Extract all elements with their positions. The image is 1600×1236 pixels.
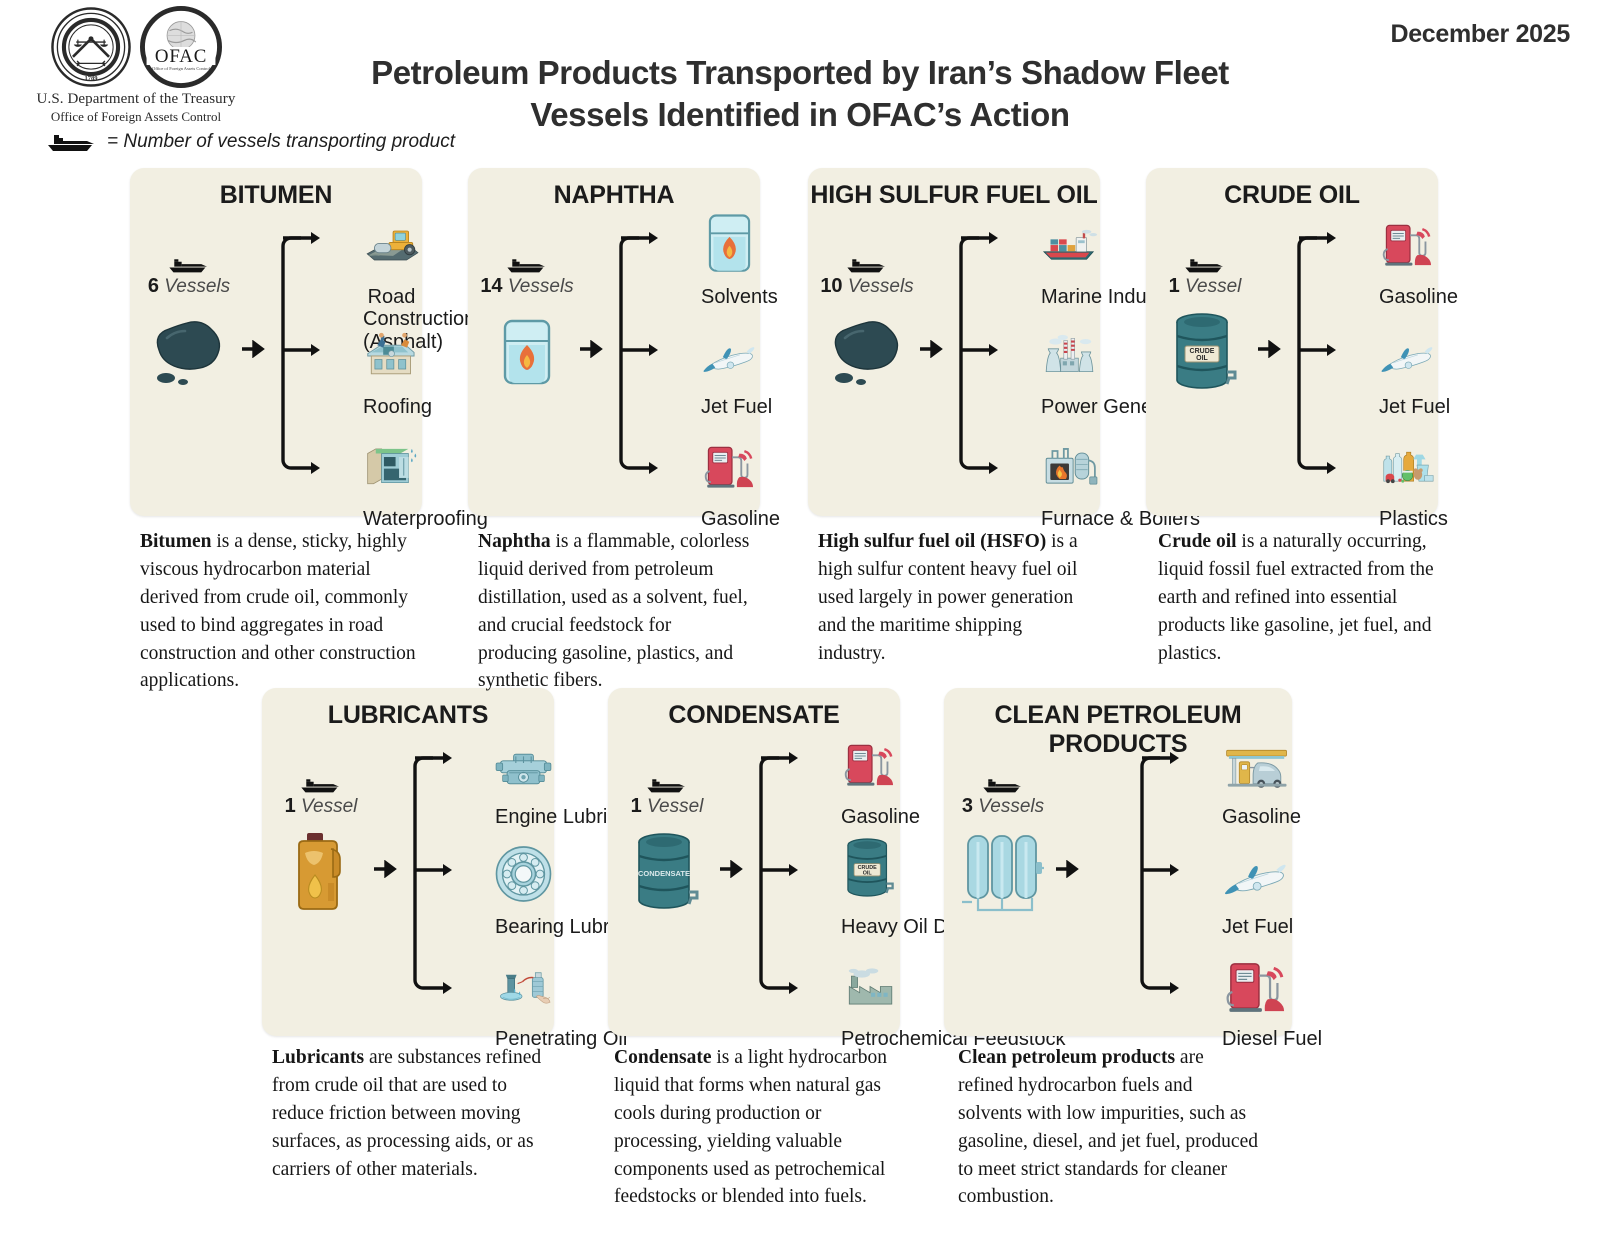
destination-lubricants-2: Penetrating Oil	[495, 960, 552, 1050]
ship-icon	[981, 776, 1025, 794]
ship-icon	[505, 256, 549, 274]
destination-icon-fuel-pump-icon	[841, 738, 898, 802]
destination-icon-furnace-boiler-icon	[1041, 440, 1098, 504]
destination-icon-gas-station-icon	[1222, 738, 1290, 802]
source-arrow	[1258, 340, 1284, 363]
destination-clean-petroleum-products-0: Gasoline	[1222, 738, 1290, 828]
destination-label: Gasoline	[1222, 806, 1290, 828]
description-text: is a dense, sticky, highly viscous hydro…	[140, 531, 416, 691]
vessel-count: 1	[631, 795, 642, 817]
destination-hsfo-0: Marine Industry	[1041, 218, 1098, 308]
vessel-count: 3	[962, 795, 973, 817]
vessel-count-line: 14 Vessels	[478, 275, 576, 298]
destination-icon-airplane-icon	[1379, 328, 1436, 392]
destination-lubricants-0: Engine Lubricant	[495, 738, 552, 828]
ship-icon	[845, 256, 889, 274]
description-term: Bitumen	[140, 531, 212, 552]
vessel-count-line: 3 Vessels	[954, 795, 1052, 818]
vessel-count-line: 1 Vessel	[618, 795, 716, 818]
product-card-lubricants: LUBRICANTS 1 Vessel Engine Lubricant Bea…	[262, 688, 554, 1036]
destination-icon-airplane-icon	[701, 328, 758, 392]
source-icon-oil-jug-icon	[272, 830, 370, 916]
source-arrow	[920, 340, 946, 363]
destination-icon-plastic-products-icon	[1379, 440, 1436, 504]
destination-bitumen-1: Roofing	[363, 328, 420, 418]
source-bitumen: 6 Vessels	[140, 256, 238, 396]
destination-icon-fuel-pump-icon	[1379, 218, 1436, 282]
description-term: Clean petroleum products	[958, 1047, 1175, 1068]
destination-clean-petroleum-products-2: Diesel Fuel	[1222, 960, 1290, 1050]
description-text: is a light hydrocarbon liquid that forms…	[614, 1047, 887, 1207]
description-term: Crude oil	[1158, 531, 1237, 552]
source-arrow	[242, 340, 268, 363]
destination-label: Jet Fuel	[701, 396, 758, 418]
svg-text:OIL: OIL	[1196, 355, 1208, 362]
svg-text:CRUDE: CRUDE	[1190, 348, 1215, 355]
ship-icon	[299, 776, 343, 794]
vessel-count: 1	[285, 795, 296, 817]
source-icon-condensate-drum-icon: CONDENSATE	[618, 830, 716, 916]
ship-icon	[1183, 256, 1227, 274]
agency-branding: 1789 OFAC Office of Foreign Assets Contr…	[26, 6, 246, 125]
destination-icon-beaker-flame-icon	[701, 218, 758, 282]
destination-crude-oil-0: Gasoline	[1379, 218, 1436, 308]
destination-icon-fuel-pump-icon	[701, 440, 758, 504]
seal-row: 1789 OFAC Office of Foreign Assets Contr…	[26, 6, 246, 88]
description-lubricants: Lubricants are substances refined from c…	[272, 1044, 548, 1183]
destination-label: Engine Lubricant	[495, 806, 552, 828]
source-icon-storage-tanks-icon	[954, 830, 1052, 916]
source-arrow	[720, 860, 746, 883]
vessel-word: Vessels	[164, 276, 230, 297]
product-card-hsfo: HIGH SULFUR FUEL OIL 10 Vessels Marine I…	[808, 168, 1100, 516]
title-line-1: Petroleum Products Transported by Iran’s…	[371, 54, 1229, 91]
destination-icon-roofing-building-icon	[363, 328, 420, 392]
description-bitumen: Bitumen is a dense, sticky, highly visco…	[140, 528, 432, 695]
destination-icon-waterproofing-membrane-icon	[363, 440, 420, 504]
destination-hsfo-2: Furnace & Boilers	[1041, 440, 1098, 530]
product-card-clean-petroleum-products: CLEAN PETROLEUM PRODUCTS 3 Vessels Gasol…	[944, 688, 1292, 1036]
vessel-word: Vessel	[647, 796, 703, 817]
description-term: Naphtha	[478, 531, 551, 552]
ship-icon	[46, 131, 98, 153]
destination-label: Heavy Oil Diluent	[841, 916, 898, 938]
treasury-seal-icon: 1789	[50, 6, 132, 88]
destination-label: Gasoline	[1379, 286, 1436, 308]
destination-condensate-1: CRUDEOIL Heavy Oil Diluent	[841, 848, 898, 938]
source-icon-crude-oil-drum-icon: CRUDEOIL	[1156, 310, 1254, 396]
source-icon-oil-blob-icon	[140, 310, 238, 396]
destination-condensate-0: Gasoline	[841, 738, 898, 828]
vessel-word: Vessels	[978, 796, 1044, 817]
svg-text:OFAC: OFAC	[155, 46, 207, 67]
vessel-count-line: 6 Vessels	[140, 275, 238, 298]
source-naphtha: 14 Vessels	[478, 256, 576, 396]
description-term: High sulfur fuel oil (HSFO)	[818, 531, 1046, 552]
svg-text:Office of Foreign Assets Contr: Office of Foreign Assets Control	[152, 66, 210, 71]
description-hsfo: High sulfur fuel oil (HSFO) is a high su…	[818, 528, 1094, 667]
description-term: Condensate	[614, 1047, 712, 1068]
source-arrow	[374, 860, 400, 883]
destination-icon-engine-icon	[495, 738, 552, 802]
infographic-page: 1789 OFAC Office of Foreign Assets Contr…	[0, 0, 1600, 1236]
description-crude-oil: Crude oil is a naturally occurring, liqu…	[1158, 528, 1438, 667]
vessel-count: 6	[148, 275, 159, 297]
source-clean-petroleum-products: 3 Vessels	[954, 776, 1052, 916]
vessel-word: Vessel	[1185, 276, 1241, 297]
destination-label: Jet Fuel	[1379, 396, 1436, 418]
title-line-2: Vessels Identified in OFAC’s Action	[530, 96, 1069, 133]
svg-text:1789: 1789	[84, 75, 98, 82]
description-clean-petroleum-products: Clean petroleum products are refined hyd…	[958, 1044, 1258, 1211]
destination-icon-factory-icon	[841, 960, 898, 1024]
destination-hsfo-1: Power Generation	[1041, 328, 1098, 418]
page-title: Petroleum Products Transported by Iran’s…	[330, 52, 1270, 136]
destination-naphtha-0: Solvents	[701, 218, 758, 308]
destination-label: Jet Fuel	[1222, 916, 1290, 938]
vessel-word: Vessel	[301, 796, 357, 817]
vessel-word: Vessels	[848, 276, 914, 297]
agency-name: U.S. Department of the Treasury	[26, 91, 246, 108]
vessel-count-line: 1 Vessel	[1156, 275, 1254, 298]
destination-label: Roofing	[363, 396, 420, 418]
destination-clean-petroleum-products-1: Jet Fuel	[1222, 848, 1290, 938]
description-naphtha: Naphtha is a flammable, colorless liquid…	[478, 528, 754, 695]
source-lubricants: 1 Vessel	[272, 776, 370, 916]
destination-icon-ball-bearing-icon	[495, 848, 552, 912]
destination-label: Power Generation	[1041, 396, 1098, 418]
vessel-count-line: 1 Vessel	[272, 795, 370, 818]
destination-icon-road-roller-icon	[363, 218, 420, 282]
vessel-count: 10	[820, 275, 842, 297]
ship-icon	[167, 256, 211, 274]
publication-date: December 2025	[1390, 20, 1570, 49]
vessel-count-line: 10 Vessels	[818, 275, 916, 298]
destination-icon-crude-oil-drum-icon: CRUDEOIL	[841, 848, 898, 912]
destination-bitumen-2: Waterproofing	[363, 440, 420, 530]
source-arrow	[580, 340, 606, 363]
destination-naphtha-2: Gasoline	[701, 440, 758, 530]
svg-text:OIL: OIL	[863, 870, 873, 876]
vessel-word: Vessels	[508, 276, 574, 297]
vessel-count: 14	[480, 275, 502, 297]
product-card-bitumen: BITUMEN 6 Vessels Road Construction (Asp…	[130, 168, 422, 516]
vessel-count: 1	[1169, 275, 1180, 297]
source-hsfo: 10 Vessels	[818, 256, 916, 396]
destination-icon-power-plant-icon	[1041, 328, 1098, 392]
source-icon-beaker-flame-icon	[478, 310, 576, 396]
source-arrow	[1056, 860, 1082, 883]
destination-icon-spray-can-bolt-icon	[495, 960, 552, 1024]
destination-icon-fuel-pump-icon	[1222, 960, 1290, 1024]
agency-office: Office of Foreign Assets Control	[26, 109, 246, 125]
description-term: Lubricants	[272, 1047, 364, 1068]
destination-lubricants-1: Bearing Lubricant	[495, 848, 552, 938]
destination-condensate-2: Petrochemical Feedstock	[841, 960, 898, 1050]
description-condensate: Condensate is a light hydrocarbon liquid…	[614, 1044, 902, 1211]
destination-icon-container-ship-icon	[1041, 218, 1098, 282]
product-card-condensate: CONDENSATE 1 Vessel CONDENSATE GasolineC…	[608, 688, 900, 1036]
destination-crude-oil-1: Jet Fuel	[1379, 328, 1436, 418]
product-card-naphtha: NAPHTHA 14 Vessels Solvents Jet Fuel Gas…	[468, 168, 760, 516]
destination-label: Bearing Lubricant	[495, 916, 552, 938]
source-condensate: 1 Vessel CONDENSATE	[618, 776, 716, 916]
description-text: are refined hydrocarbon fuels and solven…	[958, 1047, 1258, 1207]
svg-text:CONDENSATE: CONDENSATE	[638, 869, 690, 878]
destination-crude-oil-2: Plastics	[1379, 440, 1436, 530]
description-text: is a flammable, colorless liquid derived…	[478, 531, 749, 691]
destination-naphtha-1: Jet Fuel	[701, 328, 758, 418]
destination-icon-airplane-icon	[1222, 848, 1290, 912]
destination-label: Marine Industry	[1041, 286, 1098, 308]
ofac-seal-icon: OFAC Office of Foreign Assets Control	[140, 6, 222, 88]
ship-icon	[645, 776, 689, 794]
product-card-crude-oil: CRUDE OIL 1 Vessel CRUDEOIL Gasoline Jet…	[1146, 168, 1438, 516]
source-crude-oil: 1 Vessel CRUDEOIL	[1156, 256, 1254, 396]
source-icon-oil-blob-icon	[818, 310, 916, 396]
destination-label: Solvents	[701, 286, 758, 308]
